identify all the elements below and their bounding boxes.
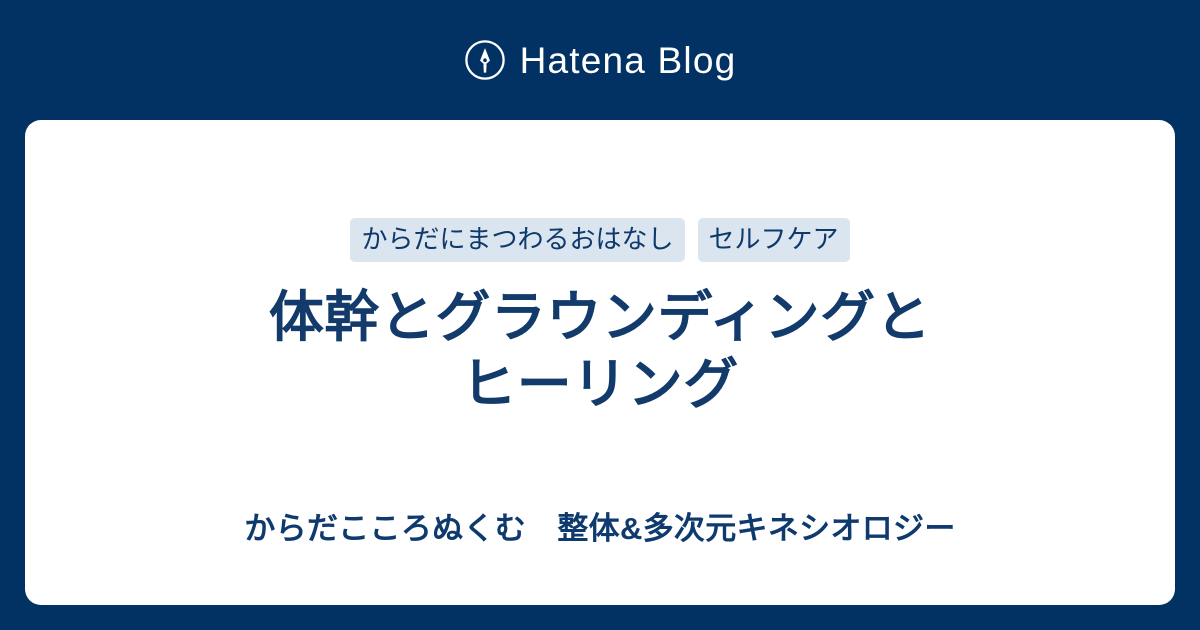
blog-name: からだこころぬくむ 整体&多次元キネシオロジー — [25, 510, 1175, 547]
brand-wordmark: Hatena Blog — [520, 42, 737, 79]
category-tag-list: からだにまつわるおはなし セルフケア — [350, 218, 849, 262]
entry-title: 体幹とグラウンディングとヒーリング — [250, 284, 950, 418]
category-tag[interactable]: セルフケア — [698, 218, 850, 262]
brand-header: Hatena Blog — [0, 0, 1200, 120]
entry-card: からだにまつわるおはなし セルフケア 体幹とグラウンディングとヒーリング からだ… — [25, 120, 1175, 605]
ogp-card-root: Hatena Blog からだにまつわるおはなし セルフケア 体幹とグラウンディ… — [0, 0, 1200, 630]
hatena-pen-nib-icon — [464, 39, 506, 81]
category-tag[interactable]: からだにまつわるおはなし — [350, 218, 684, 262]
